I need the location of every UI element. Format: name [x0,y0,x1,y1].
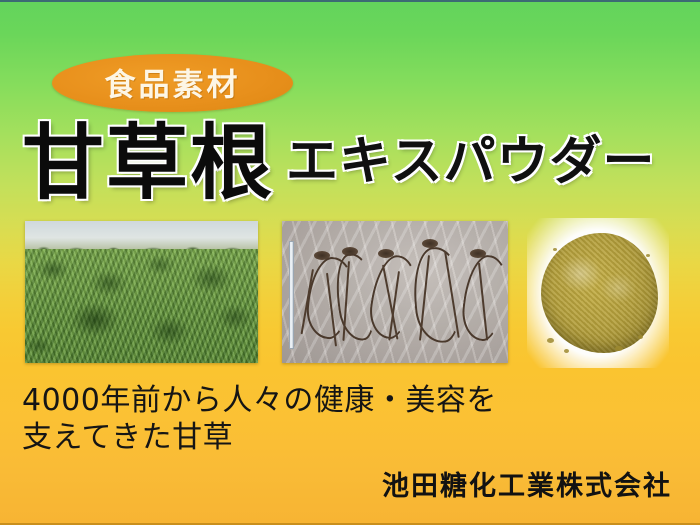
page-title-main: 甘草根 [22,115,274,211]
photo-licorice-field [25,221,258,363]
photo-extract-powder [527,218,669,368]
category-badge: 食品素材 [52,54,293,112]
tagline: 4000年前から人々の健康・美容を 支えてきた甘草 [22,382,542,456]
page-title: 甘草根エキスパウダー [22,118,692,210]
product-poster: 食品素材 甘草根エキスパウダー [0,0,700,525]
tagline-line-1: 4000年前から人々の健康・美容を [22,382,542,419]
tagline-line-2: 支えてきた甘草 [22,419,542,456]
field-foliage [25,249,258,363]
powder-speck [547,338,554,343]
roots-ruler [289,241,294,349]
page-title-sub: エキスパウダー [286,132,655,192]
photo-dried-roots [282,221,508,363]
company-name: 池田糖化工業株式会社 [382,464,672,503]
powder-speck [638,335,643,339]
powder-speck [553,248,557,251]
powder-speck [564,349,569,353]
powder-speck [615,346,623,351]
category-badge-label: 食品素材 [52,60,293,105]
